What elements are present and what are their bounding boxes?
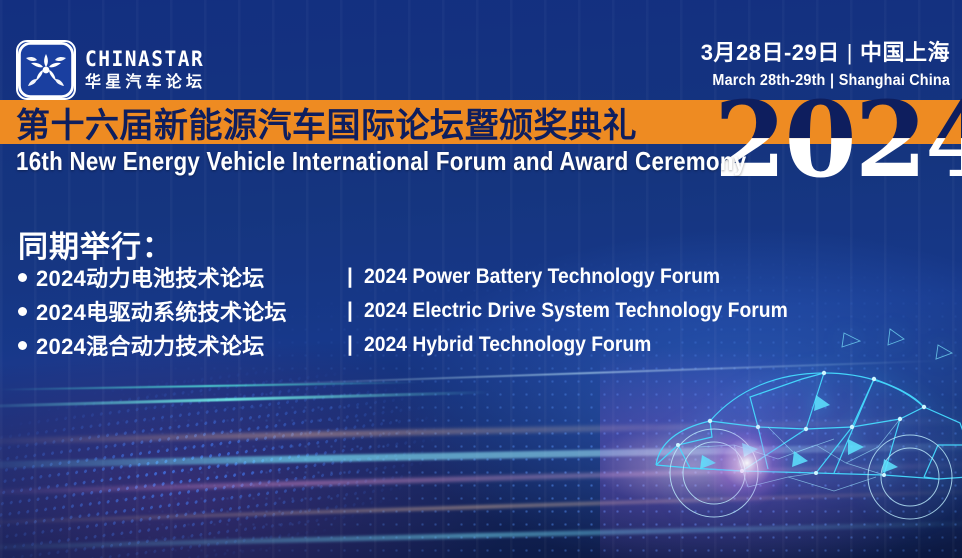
bullet-dot-icon — [18, 273, 27, 282]
date-separator-en: | — [825, 72, 838, 89]
location-en-text: Shanghai China — [839, 72, 950, 89]
page-title-en: 16th New Energy Vehicle International Fo… — [16, 146, 746, 177]
date-line-cn: 3月28日-29日|中国上海 — [686, 42, 950, 64]
date-line-en: March 28th-29th|Shanghai China — [712, 73, 950, 89]
year-graphic: 2024 2024 — [714, 92, 962, 188]
concurrent-heading: 同期举行： — [18, 222, 173, 266]
forum-name-en: 2024 Hybrid Technology Forum — [364, 333, 651, 357]
list-item: 2024电驱动系统技术论坛 | 2024 Electric Drive Syst… — [18, 296, 825, 326]
brand-name-en: CHINASTAR — [85, 49, 204, 70]
conference-banner: CHINASTAR 华星汽车论坛 3月28日-29日|中国上海 March 28… — [0, 0, 962, 558]
forum-name-cn: 2024电驱动系统技术论坛 — [36, 295, 336, 327]
brand-name-cn: 华星汽车论坛 — [85, 75, 213, 91]
forum-name-en: 2024 Electric Drive System Technology Fo… — [364, 299, 788, 323]
forum-name-en: 2024 Power Battery Technology Forum — [364, 265, 720, 289]
forum-name-cn: 2024混合动力技术论坛 — [36, 329, 336, 361]
forum-separator: | — [336, 333, 364, 357]
chinastar-star-logo — [16, 40, 76, 100]
page-title-cn: 第十六届新能源汽车国际论坛暨颁奖典礼 — [16, 101, 637, 143]
forum-name-cn: 2024动力电池技术论坛 — [36, 261, 336, 293]
date-en-text: March 28th-29th — [712, 72, 825, 89]
date-separator: | — [840, 40, 860, 65]
bullet-dot-icon — [18, 341, 27, 350]
list-item: 2024混合动力技术论坛 | 2024 Hybrid Technology Fo… — [18, 330, 825, 360]
forum-separator: | — [336, 299, 364, 323]
location-cn-text: 中国上海 — [860, 40, 950, 65]
concurrent-forum-list: 2024动力电池技术论坛 | 2024 Power Battery Techno… — [18, 262, 825, 364]
bullet-dot-icon — [18, 307, 27, 316]
brand-logo: CHINASTAR 华星汽车论坛 — [16, 40, 213, 100]
list-item: 2024动力电池技术论坛 | 2024 Power Battery Techno… — [18, 262, 825, 292]
date-cn-text: 3月28日-29日 — [701, 40, 840, 65]
forum-separator: | — [336, 265, 364, 289]
event-date-location: 3月28日-29日|中国上海 March 28th-29th|Shanghai … — [686, 42, 950, 89]
